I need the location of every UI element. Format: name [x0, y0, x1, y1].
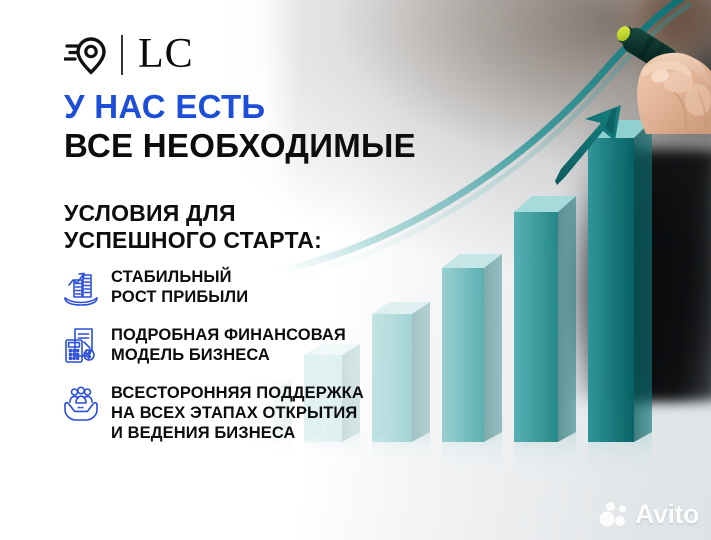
promo-banner: LC У НАС ЕСТЬ ВСЕ НЕОБХОДИМЫЕ УСЛОВИЯ ДЛ… — [0, 0, 711, 540]
list-item: ВСЕСТОРОННЯЯ ПОДДЕРЖКА НА ВСЕХ ЭТАПАХ ОТ… — [62, 382, 412, 443]
location-pin-speed-icon — [64, 33, 108, 77]
hand-holding-marker-icon — [612, 22, 711, 134]
hand-holding-growth-buildings-icon — [62, 268, 100, 308]
headline-line-2: ВСЕ НЕОБХОДИМЫЕ — [64, 126, 416, 166]
subtitle-line-1: УСЛОВИЯ ДЛЯ — [64, 200, 322, 227]
headline-line-1: У НАС ЕСТЬ — [64, 88, 416, 126]
list-item-label: СТАБИЛЬНЫЙ РОСТ ПРИБЫЛИ — [111, 266, 248, 307]
logo-divider — [121, 35, 123, 75]
subtitle: УСЛОВИЯ ДЛЯ УСПЕШНОГО СТАРТА: — [64, 200, 322, 254]
avito-dots-icon — [599, 502, 629, 528]
list-item-label: ВСЕСТОРОННЯЯ ПОДДЕРЖКА НА ВСЕХ ЭТАПАХ ОТ… — [111, 382, 364, 443]
benefits-list: СТАБИЛЬНЫЙ РОСТ ПРИБЫЛИ — [62, 266, 412, 459]
brand-logo[interactable]: LC — [64, 33, 194, 77]
hands-holding-people-support-icon — [62, 384, 100, 424]
avito-wordmark: Avito — [635, 501, 699, 528]
list-item-label: ПОДРОБНАЯ ФИНАНСОВАЯ МОДЕЛЬ БИЗНЕСА — [111, 324, 346, 365]
calculator-financial-document-icon — [62, 326, 100, 366]
list-item: ПОДРОБНАЯ ФИНАНСОВАЯ МОДЕЛЬ БИЗНЕСА — [62, 324, 412, 366]
list-item: СТАБИЛЬНЫЙ РОСТ ПРИБЫЛИ — [62, 266, 412, 308]
page-title: У НАС ЕСТЬ ВСЕ НЕОБХОДИМЫЕ — [64, 88, 416, 166]
avito-watermark: Avito — [599, 501, 699, 528]
logo-text: LC — [138, 33, 194, 75]
subtitle-line-2: УСПЕШНОГО СТАРТА: — [64, 227, 322, 254]
